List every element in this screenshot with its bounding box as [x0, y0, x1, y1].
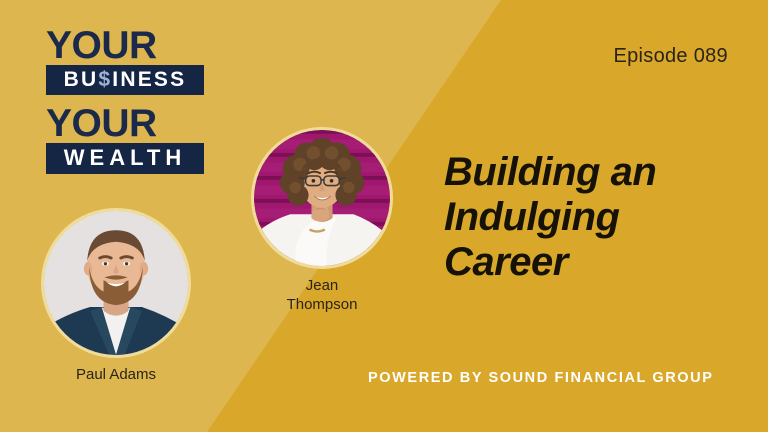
speaker-jean-thompson: Jean Thompson — [246, 127, 398, 315]
logo-business-pre: BU — [64, 68, 99, 91]
jean-thompson-headshot — [254, 130, 390, 266]
logo-business-bar: BU$INESS — [46, 65, 204, 95]
podcast-episode-card: YOUR BU$INESS YOUR WEALTH Episode 089 Bu… — [0, 0, 768, 432]
speaker-paul-adams: Paul Adams — [36, 208, 196, 385]
episode-number-label: Episode 089 — [613, 45, 728, 68]
powered-by-label: POWERED BY SOUND FINANCIAL GROUP — [368, 370, 714, 386]
dollar-sign-icon: $ — [98, 68, 112, 91]
avatar — [251, 127, 393, 269]
avatar — [41, 208, 191, 358]
logo-your-line1: YOUR — [46, 28, 204, 64]
brand-logo: YOUR BU$INESS YOUR WEALTH — [46, 28, 204, 174]
speaker-name: Paul Adams — [36, 366, 196, 385]
logo-business-post: INESS — [112, 68, 186, 91]
paul-adams-headshot — [44, 211, 188, 355]
logo-your-line2: YOUR — [46, 106, 204, 142]
episode-title: Building an Indulging Career — [444, 150, 734, 284]
speaker-name: Jean Thompson — [246, 277, 398, 315]
logo-wealth-bar: WEALTH — [46, 143, 204, 174]
logo-second-group: YOUR WEALTH — [46, 106, 204, 174]
